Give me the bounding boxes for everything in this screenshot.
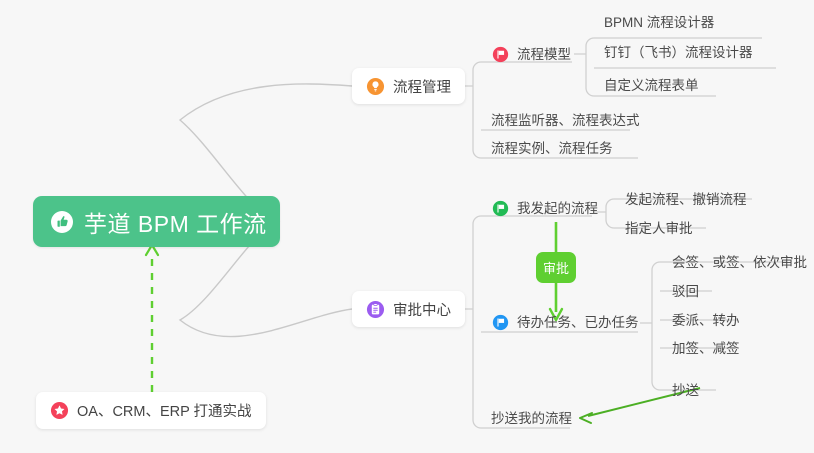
- node-process-model[interactable]: 流程模型: [492, 46, 571, 63]
- approval-callout-label: 审批: [543, 258, 569, 277]
- node-my-initiated-process[interactable]: 我发起的流程: [492, 200, 598, 217]
- branch-label-process-management: 流程管理: [393, 76, 451, 97]
- leaf-assignee-approval[interactable]: 指定人审批: [625, 222, 693, 236]
- thumbs-up-icon: [50, 210, 74, 234]
- leaf-delegate-transfer[interactable]: 委派、转办: [672, 314, 740, 328]
- lightbulb-icon: [366, 77, 385, 96]
- node-label-todo-done-tasks: 待办任务、已办任务: [517, 316, 639, 330]
- leaf-process-instance[interactable]: 流程实例、流程任务: [491, 142, 613, 156]
- leaf-reject[interactable]: 驳回: [672, 285, 699, 299]
- leaf-dingtalk-designer[interactable]: 钉钉（飞书）流程设计器: [604, 46, 753, 60]
- star-icon: [50, 401, 69, 420]
- integration-node[interactable]: OA、CRM、ERP 打通实战: [36, 392, 266, 429]
- node-todo-done-tasks[interactable]: 待办任务、已办任务: [492, 314, 639, 331]
- branch-node-approval-center[interactable]: 审批中心: [352, 291, 465, 327]
- branch-node-process-management[interactable]: 流程管理: [352, 68, 465, 104]
- flag-icon-blue: [492, 314, 509, 331]
- dashed-green-arrow: [146, 245, 158, 392]
- root-node[interactable]: 芋道 BPM 工作流: [33, 196, 280, 247]
- leaf-custom-form[interactable]: 自定义流程表单: [604, 79, 699, 93]
- leaf-bpmn-designer[interactable]: BPMN 流程设计器: [604, 16, 714, 30]
- approval-callout[interactable]: 审批: [536, 252, 576, 283]
- leaf-countersign[interactable]: 会签、或签、依次审批: [672, 256, 807, 270]
- leaf-cc[interactable]: 抄送: [672, 384, 699, 398]
- root-label: 芋道 BPM 工作流: [84, 205, 267, 239]
- mindmap-canvas: 芋道 BPM 工作流 流程管理 流程模型 BPMN 流程设计器 钉钉（飞书）流程…: [0, 0, 814, 453]
- flag-icon-green: [492, 200, 509, 217]
- leaf-start-cancel-process[interactable]: 发起流程、撤销流程: [625, 193, 747, 207]
- branch-label-approval-center: 审批中心: [393, 299, 451, 320]
- node-label-my-initiated-process: 我发起的流程: [517, 202, 598, 216]
- leaf-process-listener[interactable]: 流程监听器、流程表达式: [491, 114, 640, 128]
- flag-icon-red: [492, 46, 509, 63]
- integration-node-label: OA、CRM、ERP 打通实战: [77, 400, 252, 421]
- leaf-cc-to-me[interactable]: 抄送我的流程: [491, 412, 572, 426]
- clipboard-icon: [366, 300, 385, 319]
- leaf-add-remove-sign[interactable]: 加签、减签: [672, 342, 740, 356]
- node-label-process-model: 流程模型: [517, 48, 571, 62]
